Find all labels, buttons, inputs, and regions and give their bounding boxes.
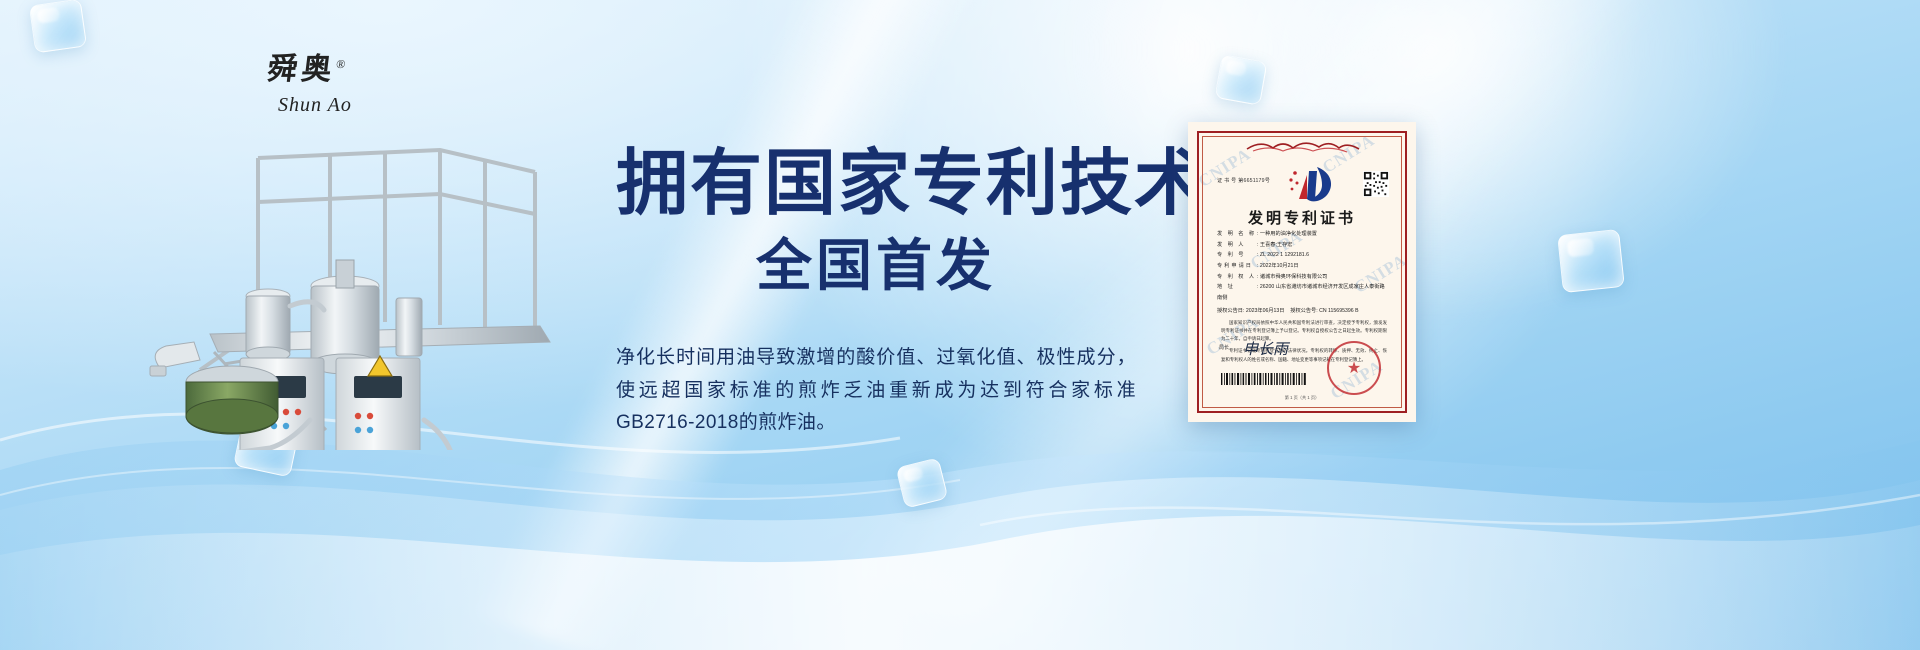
ice-cube-2 bbox=[1215, 54, 1268, 105]
certificate-paragraph-2: 专利证书记载专利权登记时的法律状况。专利权的转移、质押、无效、终止、恢复和专利权… bbox=[1221, 347, 1387, 363]
certificate-paragraphs: 国家知识产权局依照中华人民共和国专利法进行审查，决定授予专利权，颁发发明专利证书… bbox=[1221, 319, 1387, 364]
signature-label: 局长 bbox=[1219, 344, 1229, 351]
ornament-icon bbox=[1243, 139, 1363, 155]
brand-logo: 舜奥® Shun Ao bbox=[268, 44, 388, 116]
headline-secondary: 全国首发 bbox=[616, 238, 1136, 294]
brand-logo-en: Shun Ao bbox=[278, 94, 388, 117]
certificate-number: 证 书 号 第6651179号 bbox=[1217, 177, 1270, 184]
ice-cube-3 bbox=[1557, 229, 1625, 293]
signature: 申长雨 bbox=[1243, 338, 1288, 359]
field-row: 发 明 人: 王喜春;王存宏 bbox=[1217, 240, 1389, 251]
official-seal-icon: ★ bbox=[1327, 341, 1381, 395]
grant-row: 授权公告日: 2023年06月13日 授权公告号: CN 115695396 B bbox=[1217, 306, 1389, 317]
brand-logo-cn: 舜奥® bbox=[265, 44, 390, 88]
field-row: 专 利 号: ZL 2022 1 1292181.6 bbox=[1217, 250, 1389, 261]
hero-description: 净化长时间用油导致激增的酸价值、过氧化值、极性成分，使远超国家标准的煎炸乏油重新… bbox=[616, 342, 1136, 440]
hero-copy: 拥有国家专利技术 全国首发 净化长时间用油导致激增的酸价值、过氧化值、极性成分，… bbox=[616, 148, 1136, 440]
certificate-footer: 第 1 页（共 1 页） bbox=[1199, 395, 1405, 401]
certificate-fields: 发 明 名 称: 一种用的油净化处理装置 发 明 人: 王喜春;王存宏 专 利 … bbox=[1217, 229, 1389, 316]
field-row: 专利申请日: 2022年10月21日 bbox=[1217, 261, 1389, 272]
ice-cube-1 bbox=[29, 0, 87, 53]
certificate-paragraph-1: 国家知识产权局依照中华人民共和国专利法进行审查，决定授予专利权，颁发发明专利证书… bbox=[1221, 319, 1387, 343]
barcode-icon bbox=[1221, 373, 1307, 385]
qr-code-icon bbox=[1363, 171, 1389, 197]
seal-star-icon: ★ bbox=[1347, 358, 1361, 378]
patent-certificate: CNIPA CNIPA CNIPA CNIPA CNIPA CNIPA 证 书 … bbox=[1188, 122, 1416, 422]
cnipa-emblem-icon bbox=[1287, 163, 1339, 205]
field-row: 地 址: 26200 山东省潍坊市诸城市经济开发区成家庄人泰街路南侧 bbox=[1217, 282, 1389, 303]
hero-banner: 舜奥® Shun Ao bbox=[0, 0, 1920, 650]
field-row: 发 明 名 称: 一种用的油净化处理装置 bbox=[1217, 229, 1389, 240]
oil-purification-machine bbox=[140, 120, 610, 450]
certificate-title: 发明专利证书 bbox=[1199, 207, 1405, 228]
registered-mark-icon: ® bbox=[335, 57, 350, 71]
certificate-border: 证 书 号 第6651179号 bbox=[1197, 131, 1407, 413]
field-row: 专 利 权 人: 诸城市舜奥环保科技有限公司 bbox=[1217, 272, 1389, 283]
headline-primary: 拥有国家专利技术 bbox=[616, 148, 1136, 220]
